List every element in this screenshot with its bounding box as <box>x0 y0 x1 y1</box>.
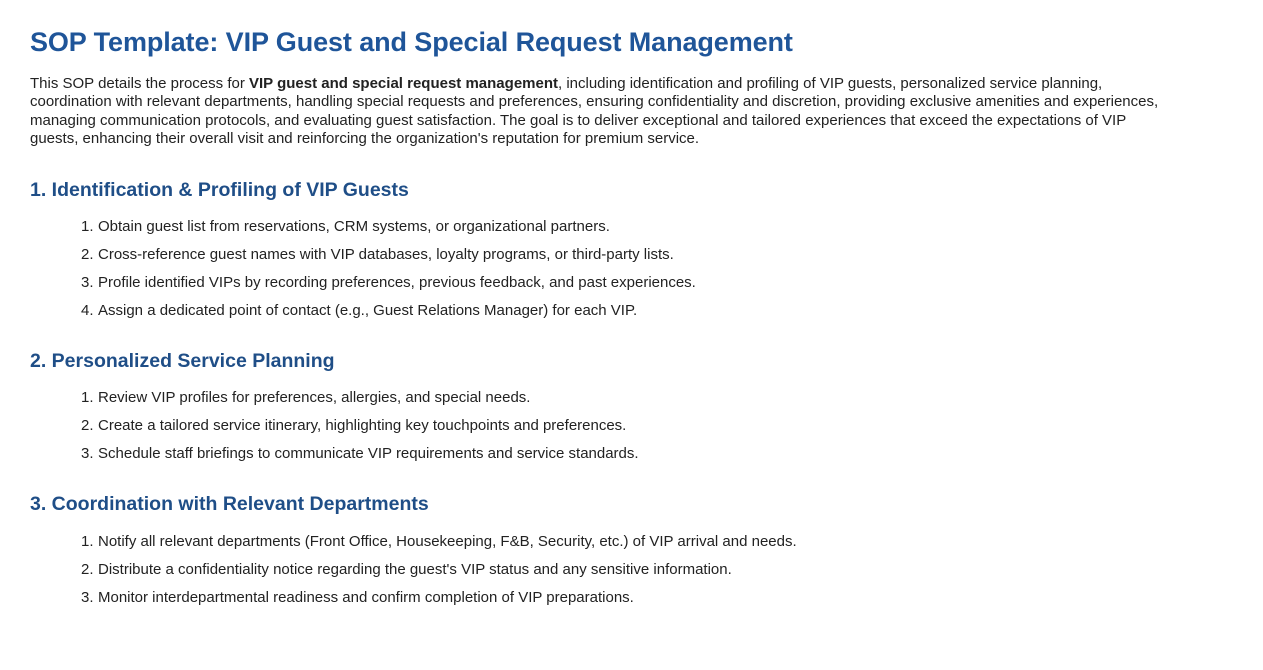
list-item-text: Notify all relevant departments (Front O… <box>98 533 797 550</box>
list-item-marker: 1. <box>81 218 97 236</box>
list-item: 2.Distribute a confidentiality notice re… <box>30 561 1233 579</box>
section-step-list: 1.Review VIP profiles for preferences, a… <box>30 374 1233 463</box>
list-item-marker: 2. <box>81 246 97 264</box>
document-section: 2. Personalized Service Planning1.Review… <box>30 320 1233 463</box>
list-item: 4.Assign a dedicated point of contact (e… <box>30 302 1233 320</box>
list-item: 1.Notify all relevant departments (Front… <box>30 533 1233 551</box>
document-section: 1. Identification & Profiling of VIP Gue… <box>30 149 1233 320</box>
list-item: 2.Cross-reference guest names with VIP d… <box>30 246 1233 264</box>
document-page: SOP Template: VIP Guest and Special Requ… <box>0 0 1263 607</box>
list-item-marker: 4. <box>81 302 97 320</box>
intro-text-before-bold: This SOP details the process for <box>30 75 249 92</box>
list-item-text: Review VIP profiles for preferences, all… <box>98 389 530 406</box>
list-item-marker: 3. <box>81 589 97 607</box>
section-heading: 1. Identification & Profiling of VIP Gue… <box>30 149 1233 203</box>
page-title: SOP Template: VIP Guest and Special Requ… <box>30 0 1233 60</box>
list-item-marker: 1. <box>81 389 97 407</box>
list-item-text: Profile identified VIPs by recording pre… <box>98 274 696 291</box>
list-item-text: Create a tailored service itinerary, hig… <box>98 417 626 434</box>
list-item-text: Obtain guest list from reservations, CRM… <box>98 218 610 235</box>
list-item-marker: 2. <box>81 561 97 579</box>
sections-container: 1. Identification & Profiling of VIP Gue… <box>30 149 1233 607</box>
list-item: 3.Monitor interdepartmental readiness an… <box>30 589 1233 607</box>
section-step-list: 1.Obtain guest list from reservations, C… <box>30 203 1233 320</box>
list-item-marker: 3. <box>81 445 97 463</box>
list-item: 2.Create a tailored service itinerary, h… <box>30 417 1233 435</box>
list-item-text: Distribute a confidentiality notice rega… <box>98 561 732 578</box>
list-item: 1.Review VIP profiles for preferences, a… <box>30 389 1233 407</box>
section-heading: 3. Coordination with Relevant Department… <box>30 463 1233 517</box>
section-step-list: 1.Notify all relevant departments (Front… <box>30 518 1233 607</box>
list-item: 3.Schedule staff briefings to communicat… <box>30 445 1233 463</box>
list-item-text: Assign a dedicated point of contact (e.g… <box>98 302 637 319</box>
list-item-marker: 1. <box>81 533 97 551</box>
list-item-text: Monitor interdepartmental readiness and … <box>98 589 634 606</box>
list-item: 1.Obtain guest list from reservations, C… <box>30 218 1233 236</box>
intro-bold-phrase: VIP guest and special request management <box>249 75 558 92</box>
list-item-text: Cross-reference guest names with VIP dat… <box>98 246 674 263</box>
list-item: 3.Profile identified VIPs by recording p… <box>30 274 1233 292</box>
intro-paragraph: This SOP details the process for VIP gue… <box>30 60 1178 149</box>
section-heading: 2. Personalized Service Planning <box>30 320 1233 374</box>
list-item-marker: 2. <box>81 417 97 435</box>
document-section: 3. Coordination with Relevant Department… <box>30 463 1233 606</box>
list-item-marker: 3. <box>81 274 97 292</box>
list-item-text: Schedule staff briefings to communicate … <box>98 445 639 462</box>
